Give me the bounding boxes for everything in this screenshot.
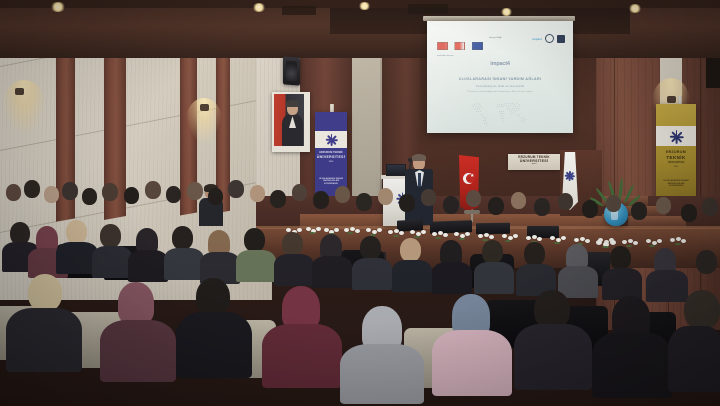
presentation-slide: Avrupa Birliğitarafından finanse impact … xyxy=(427,21,573,133)
audience-head xyxy=(124,187,139,204)
ceiling-vent xyxy=(282,6,316,15)
audience-head xyxy=(292,184,307,201)
audience-head xyxy=(6,184,21,201)
audience-head xyxy=(282,232,303,256)
audience-head xyxy=(82,188,97,205)
audience-head xyxy=(400,238,421,262)
audience-shoulders xyxy=(668,326,720,392)
audience-head xyxy=(28,274,62,312)
audience-shoulders xyxy=(340,344,424,404)
banner-right-line2: TEKNİK xyxy=(656,156,696,161)
audience-shoulders xyxy=(100,320,176,382)
wall-sign: ERZURUM TEKNİK ÜNİVERSİTESİ 2010 xyxy=(508,154,560,170)
wall-sconce xyxy=(15,88,24,95)
audience-head xyxy=(684,290,720,330)
projection-screen[interactable]: Avrupa Birliğitarafından finanse impact … xyxy=(427,21,573,133)
ceiling-vent xyxy=(408,4,448,14)
slide-partner-logos: impact xyxy=(532,34,565,43)
audience-head xyxy=(335,186,350,203)
audience-head xyxy=(44,186,59,203)
headscarf xyxy=(118,282,154,324)
audience-head xyxy=(100,224,121,248)
ceiling-light xyxy=(50,2,66,12)
audience-head xyxy=(610,246,631,270)
institute-logo xyxy=(557,35,565,43)
audience-head xyxy=(524,242,545,266)
world-map-graphic xyxy=(449,97,553,131)
banner-right-line4: 2010 xyxy=(656,166,696,168)
audience-head xyxy=(187,182,203,200)
snowflake-emblem xyxy=(326,133,337,146)
audience-shoulders xyxy=(514,324,592,390)
banner-right-line3: ÜNİVERSİTESİ xyxy=(656,162,696,165)
ceiling-light xyxy=(358,2,371,10)
ataturk-portrait xyxy=(274,94,304,146)
audience-head xyxy=(250,185,265,202)
partner-text-logo: impact xyxy=(532,37,542,41)
audience-head xyxy=(66,220,87,244)
banner-left-line3: 2010 xyxy=(315,161,347,163)
audience-head xyxy=(244,228,265,252)
audience xyxy=(0,176,720,406)
portrait-frame xyxy=(272,92,310,152)
audience-head xyxy=(360,236,381,260)
wall-sign-line3: 2010 xyxy=(508,163,560,165)
audience-shoulders xyxy=(262,324,342,388)
snowflake-emblem xyxy=(670,129,683,144)
audience-shoulders xyxy=(176,312,252,378)
eu-flag-logo xyxy=(472,42,483,50)
audience-head xyxy=(145,181,161,199)
wall-sconce-glow xyxy=(2,80,46,134)
slide-subtitle: Koordinasyon, Etik ve Gerçeklik xyxy=(427,84,573,88)
partner-flag-logo xyxy=(454,42,465,50)
audience-head xyxy=(102,183,118,201)
slide-flag-logos: Avrupa Birliğitarafından finanse xyxy=(437,37,502,73)
auditorium-photo: Avrupa Birliğitarafından finanse impact … xyxy=(0,0,720,406)
slide-title: ULUSLARARASI İNSANİ YARDIM AĞLARI xyxy=(427,77,573,81)
audience-head xyxy=(378,188,393,205)
slide-brandmark: impact4 xyxy=(427,61,573,67)
speaker-hair xyxy=(412,154,426,161)
audience-shoulders xyxy=(592,332,672,398)
wall-speaker xyxy=(283,56,300,85)
audience-head xyxy=(166,186,181,203)
audience-head xyxy=(196,278,230,316)
wall-sconce xyxy=(667,96,676,103)
slide-subtitle-secondary: "Uluslararası Yardım Ağlarında Koordinas… xyxy=(427,91,573,93)
laptop-screen xyxy=(387,165,405,175)
gear-logo xyxy=(545,34,554,43)
laptop[interactable] xyxy=(386,164,406,176)
banner-left-line2: ÜNİVERSİTESİ xyxy=(315,156,347,160)
audience-head xyxy=(24,180,40,198)
audience-head xyxy=(208,188,223,205)
audience-shoulders xyxy=(432,330,512,396)
ceiling-light xyxy=(500,8,513,16)
audience-head xyxy=(62,182,78,200)
ceiling-light xyxy=(628,4,642,13)
audience-head xyxy=(466,190,481,207)
audience-head xyxy=(421,189,436,206)
audience-shoulders xyxy=(6,308,82,372)
audience-head xyxy=(696,250,717,274)
audience-front-row xyxy=(0,272,720,406)
wall-sconce xyxy=(200,104,209,111)
audience-head xyxy=(482,240,503,264)
ceiling-light xyxy=(252,3,266,12)
turkish-flag-logo xyxy=(437,42,448,50)
audience-head xyxy=(172,226,193,250)
audience-head xyxy=(228,180,244,198)
